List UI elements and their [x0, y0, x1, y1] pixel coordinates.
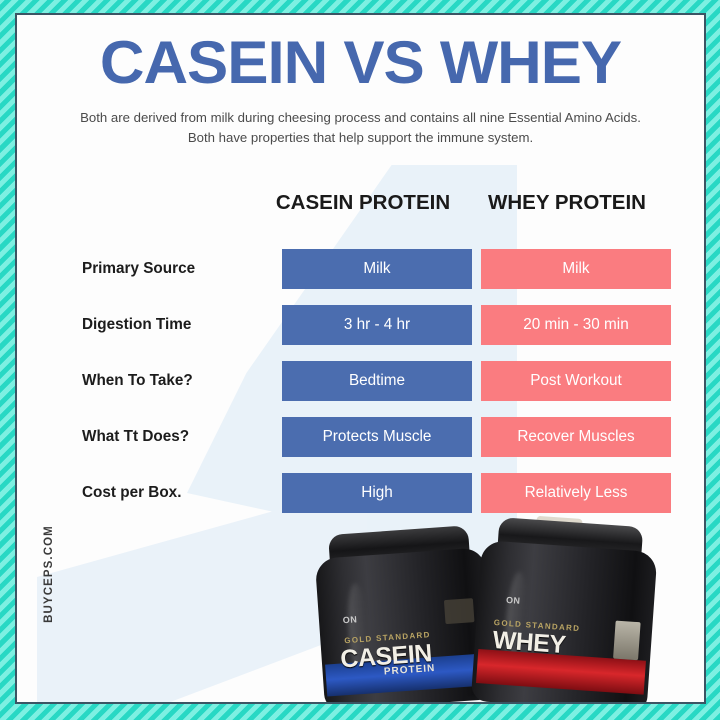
- tub-label-box: [444, 598, 475, 624]
- site-watermark: BUYCEPS.COM: [43, 514, 55, 634]
- whey-product-tub: ON GOLD STANDARD WHEY: [471, 516, 659, 704]
- tub-body: ON GOLD STANDARD WHEY: [471, 540, 658, 704]
- poster-frame: CASEIN VS WHEY Both are derived from mil…: [0, 0, 720, 720]
- tub-label-box: [613, 620, 640, 660]
- cell-whey: Post Workout: [481, 361, 671, 401]
- cell-casein: Protects Muscle: [282, 417, 472, 457]
- page-title: CASEIN VS WHEY: [15, 33, 706, 93]
- table-row: Digestion Time 3 hr - 4 hr 20 min - 30 m…: [17, 305, 704, 345]
- row-label: When To Take?: [82, 361, 272, 401]
- cell-casein: 3 hr - 4 hr: [282, 305, 472, 345]
- cell-whey: Recover Muscles: [481, 417, 671, 457]
- table-row: Primary Source Milk Milk: [17, 249, 704, 289]
- row-label: Cost per Box.: [82, 473, 272, 513]
- cell-whey: Milk: [481, 249, 671, 289]
- column-header-whey: WHEY PROTEIN: [467, 191, 667, 215]
- table-row: When To Take? Bedtime Post Workout: [17, 361, 704, 401]
- cell-whey: 20 min - 30 min: [481, 305, 671, 345]
- cell-whey: Relatively Less: [481, 473, 671, 513]
- cell-casein: High: [282, 473, 472, 513]
- table-row: What Tt Does? Protects Muscle Recover Mu…: [17, 417, 704, 457]
- infographic-card: CASEIN VS WHEY Both are derived from mil…: [15, 13, 706, 704]
- cell-casein: Milk: [282, 249, 472, 289]
- product-photo-group: ON GOLD STANDARD CASEIN PROTEIN ON: [297, 510, 706, 704]
- page-subtitle: Both are derived from milk during cheesi…: [77, 108, 644, 149]
- row-label: Primary Source: [82, 249, 272, 289]
- cell-casein: Bedtime: [282, 361, 472, 401]
- table-row: Cost per Box. High Relatively Less: [17, 473, 704, 513]
- product-name-text: WHEY: [492, 626, 567, 660]
- brand-logo-text: ON: [506, 595, 521, 606]
- casein-product-tub: ON GOLD STANDARD CASEIN PROTEIN: [313, 524, 495, 704]
- row-label: What Tt Does?: [82, 417, 272, 457]
- brand-logo-text: ON: [342, 614, 357, 625]
- tub-body: ON GOLD STANDARD CASEIN PROTEIN: [315, 547, 495, 704]
- column-header-casein: CASEIN PROTEIN: [263, 191, 463, 215]
- row-label: Digestion Time: [82, 305, 272, 345]
